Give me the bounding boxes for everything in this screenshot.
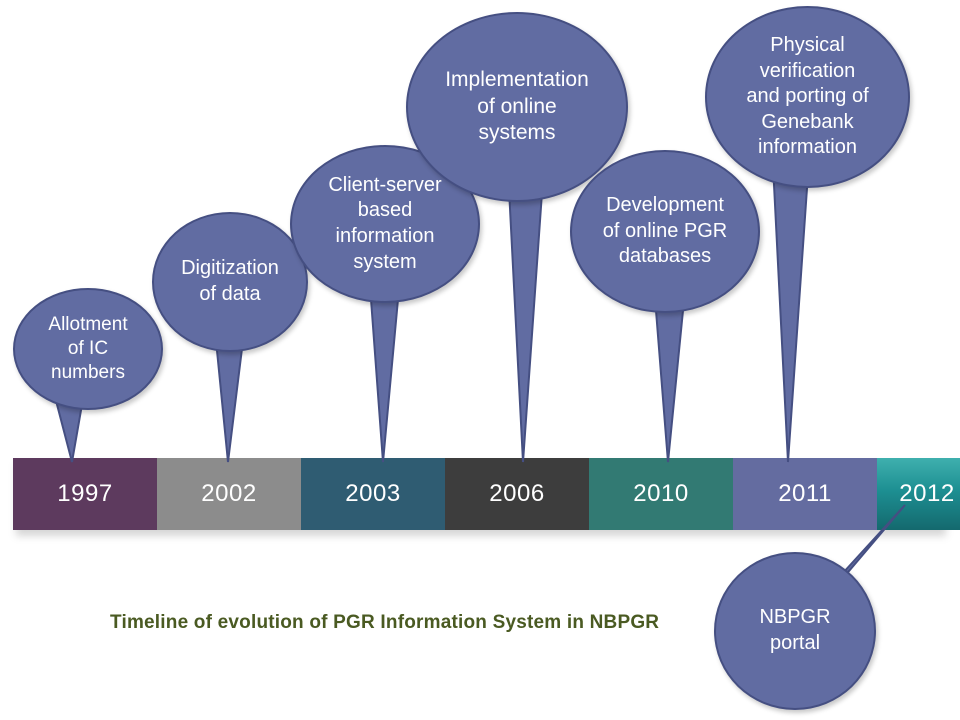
timeline-segment-2003[interactable]: 2003 — [301, 458, 445, 530]
segment-year-label: 2010 — [633, 480, 688, 508]
timeline-diagram: 1997 2002 2003 2006 2010 2011 2012 — [0, 0, 960, 720]
timeline-segment-2006[interactable]: 2006 — [445, 458, 589, 530]
callout-text: Physical verification and porting of Gen… — [746, 33, 868, 161]
callout-bubble-1997[interactable]: Allotment of IC numbers — [13, 288, 163, 410]
callout-bubble-2002[interactable]: Digitization of data — [152, 212, 308, 352]
callout-bubble-2011[interactable]: Physical verification and porting of Gen… — [705, 6, 910, 188]
segment-year-label: 2011 — [778, 480, 832, 508]
segment-year-label: 2002 — [201, 480, 256, 508]
callout-text: Implementation of online systems — [445, 67, 589, 148]
timeline-segment-2002[interactable]: 2002 — [157, 458, 301, 530]
diagram-caption: Timeline of evolution of PGR Information… — [110, 612, 659, 634]
timeline-segment-2010[interactable]: 2010 — [589, 458, 733, 530]
callout-bubble-2012[interactable]: NBPGR portal — [714, 552, 876, 710]
callout-bubble-body: NBPGR portal — [714, 552, 876, 710]
segment-year-label: 2012 — [899, 480, 954, 508]
callout-text: Digitization of data — [181, 256, 279, 307]
segment-year-label: 2006 — [489, 480, 544, 508]
callout-tail-2011 — [760, 145, 822, 465]
callout-bubble-body: Digitization of data — [152, 212, 308, 352]
callout-text: NBPGR portal — [759, 605, 830, 656]
callout-bubble-body: Physical verification and porting of Gen… — [705, 6, 910, 188]
segment-year-label: 1997 — [57, 480, 112, 508]
timeline-segment-1997[interactable]: 1997 — [13, 458, 157, 530]
segment-year-label: 2003 — [345, 480, 400, 508]
callout-text: Development of online PGR databases — [603, 193, 728, 270]
callout-text: Allotment of IC numbers — [48, 313, 127, 386]
callout-bubble-body: Allotment of IC numbers — [13, 288, 163, 410]
